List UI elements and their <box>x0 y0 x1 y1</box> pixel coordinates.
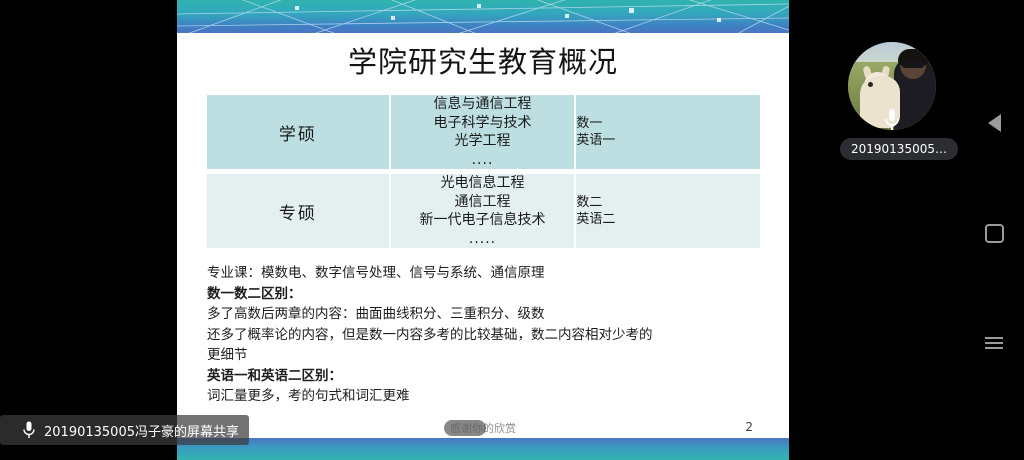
home-button[interactable] <box>979 218 1009 248</box>
cell-category: 专硕 <box>207 174 391 248</box>
slide-banner-bottom <box>177 438 789 460</box>
cell-exams: 数一 英语一 <box>576 95 760 169</box>
android-nav-bar <box>964 0 1024 460</box>
back-icon <box>988 114 1001 132</box>
back-button[interactable] <box>979 108 1009 138</box>
major-item: 电子科学与技术 <box>391 114 575 133</box>
home-icon <box>985 224 1004 243</box>
shared-screen-slide[interactable]: 学院研究生教育概况 学硕 信息与通信工程 电子科学与技术 光学工程 .... 数… <box>177 0 789 460</box>
slide-page-number: 2 <box>745 420 753 434</box>
footer-overlay-pill <box>444 420 486 436</box>
phone-screen: 学院研究生教育概况 学硕 信息与通信工程 电子科学与技术 光学工程 .... 数… <box>0 0 1024 460</box>
major-item-ellipsis: ..... <box>391 230 575 249</box>
screen-share-label: 20190135005冯子豪的屏幕共享 <box>44 421 239 440</box>
avatar[interactable] <box>848 42 936 130</box>
recents-button[interactable] <box>979 328 1009 358</box>
screen-share-status-bar: 20190135005冯子豪的屏幕共享 <box>0 415 249 445</box>
exam-item: 英语二 <box>576 211 760 228</box>
body-line: 多了高数后两章的内容：曲面曲线积分、三重积分、级数 <box>207 304 767 325</box>
exam-item: 英语一 <box>576 132 760 149</box>
major-item-ellipsis: .... <box>391 151 575 170</box>
participant-tile[interactable]: 20190135005… <box>840 42 944 160</box>
major-item: 信息与通信工程 <box>391 95 575 114</box>
slide-footer: 感谢你的欣赏 2 <box>177 420 789 438</box>
exam-item: 数二 <box>576 194 760 211</box>
table-row: 专硕 光电信息工程 通信工程 新一代电子信息技术 ..... 数二 英语二 <box>207 174 760 248</box>
exam-item: 数一 <box>576 115 760 132</box>
recents-icon <box>985 334 1003 352</box>
slide-body-text: 专业课：模数电、数字信号处理、信号与系统、通信原理 数一数二区别： 多了高数后两… <box>207 263 767 407</box>
major-item: 光电信息工程 <box>391 174 575 193</box>
body-line: 专业课：模数电、数字信号处理、信号与系统、通信原理 <box>207 263 767 284</box>
body-line: 词汇量更多，考的句式和词汇更难 <box>207 386 767 407</box>
major-item: 光学工程 <box>391 132 575 151</box>
slide-banner-top <box>177 0 789 33</box>
slide-title: 学院研究生教育概况 <box>177 44 789 80</box>
major-item: 通信工程 <box>391 193 575 212</box>
cell-exams: 数二 英语二 <box>576 174 760 248</box>
programs-table: 学硕 信息与通信工程 电子科学与技术 光学工程 .... 数一 英语一 专硕 光… <box>207 95 760 248</box>
mic-icon <box>883 108 901 130</box>
major-item: 新一代电子信息技术 <box>391 211 575 230</box>
mic-icon <box>22 421 36 439</box>
cell-majors: 信息与通信工程 电子科学与技术 光学工程 .... <box>391 95 577 169</box>
body-line: 更细节 <box>207 345 767 366</box>
banner-network-pattern <box>177 0 789 33</box>
participant-name-label: 20190135005… <box>840 138 958 160</box>
cell-category: 学硕 <box>207 95 391 169</box>
body-line-heading: 英语一和英语二区别： <box>207 366 767 387</box>
body-line: 还多了概率论的内容，但是数一内容多考的比较基础，数二内容相对少考的 <box>207 325 767 346</box>
cell-majors: 光电信息工程 通信工程 新一代电子信息技术 ..... <box>391 174 577 248</box>
table-row: 学硕 信息与通信工程 电子科学与技术 光学工程 .... 数一 英语一 <box>207 95 760 169</box>
body-line-heading: 数一数二区别： <box>207 284 767 305</box>
